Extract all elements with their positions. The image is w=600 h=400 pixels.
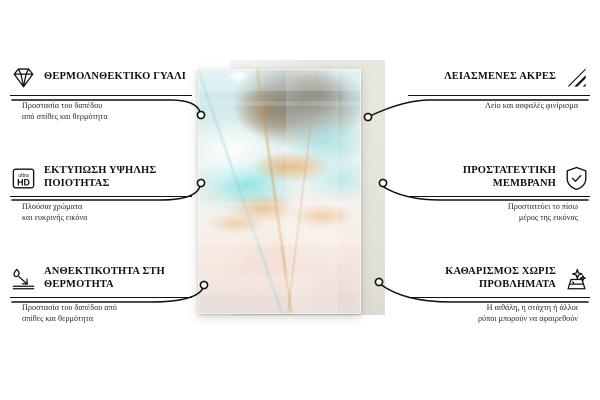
feature-title: ΘΕΡΜΟΛΝΘΕΚΤΙΚΟ ΓΥΑΛΙ [44,71,192,84]
feature-polished-edges: ΛΕΙΑΣΜΕΝΕΣ ΑΚΡΕΣ Λείο και ασφαλές φινίρι… [408,62,590,111]
feature-title: ΑΝΘΕΚΤΙΚΟΤΗΤΑ ΣΤΗ ΘΕΡΜΟΤΗΤΑ [44,266,192,292]
feature-header: ΚΑΘΑΡΙΣΜΟΣ ΧΩΡΙΣ ΠΡΟΒΛΗΜΑΤΑ [408,264,590,294]
leader-dot-right-1 [364,113,371,120]
feature-description: Προστασία του δαπέδου από σπίθες και θερ… [10,100,192,123]
leader-dot-left-1 [197,111,204,118]
feature-header: ΠΡΟΣΤΑΤΕΥΤΙΚΗ ΜΕΜΒΡΑΝΗ [408,163,590,193]
feature-title: ΠΡΟΣΤΑΤΕΥΤΙΚΗ ΜΕΜΒΡΑΝΗ [408,165,556,191]
feature-description: Προστασία του δαπέδου από σπίθες και θερ… [10,302,192,325]
feature-description: Πλούσια χρώματα και ευκρινής εικόνα [10,201,192,224]
feature-header: ΑΝΘΕΚΤΙΚΟΤΗΤΑ ΣΤΗ ΘΕΡΜΟΤΗΤΑ [10,264,192,294]
feature-divider [408,297,590,298]
feature-header: ΘΕΡΜΟΛΝΘΕΚΤΙΚΟ ΓΥΑΛΙ [10,62,192,92]
ultra-hd-icon-hd-label: HD [17,177,30,187]
feature-divider [10,95,192,96]
feature-divider [408,95,590,96]
feature-title: ΚΑΘΑΡΙΣΜΟΣ ΧΩΡΙΣ ΠΡΟΒΛΗΜΑΤΑ [408,266,556,292]
feature-divider [10,196,192,197]
feature-header: ΛΕΙΑΣΜΕΝΕΣ ΑΚΡΕΣ [408,62,590,92]
polished-edges-icon [563,64,590,91]
feature-description: Λείο και ασφαλές φινίρισμα [408,100,590,111]
feature-title: ΕΚΤΥΠΩΣΗ ΥΨΗΛΗΣ ΠΟΙΟΤΗΤΑΣ [44,165,192,191]
feature-high-quality-print: ultra HD ΕΚΤΥΠΩΣΗ ΥΨΗΛΗΣ ΠΟΙΟΤΗΤΑΣ Πλούσ… [10,163,192,224]
leader-dot-left-2 [197,179,204,186]
diamond-icon [10,64,37,91]
feature-description: Η αιθάλη, η στάχτη ή άλλοι ρύποι μπορούν… [408,302,590,325]
shield-check-icon [563,165,590,192]
feature-heat-resistance: ΑΝΘΕΚΤΙΚΟΤΗΤΑ ΣΤΗ ΘΕΡΜΟΤΗΤΑ Προστασία το… [10,264,192,325]
feature-divider [10,297,192,298]
easy-cleaning-icon [563,266,590,293]
feature-divider [408,196,590,197]
feature-header: ultra HD ΕΚΤΥΠΩΣΗ ΥΨΗΛΗΣ ΠΟΙΟΤΗΤΑΣ [10,163,192,193]
heat-resistance-icon [10,266,37,293]
leader-dot-right-2 [379,179,386,186]
feature-protective-membrane: ΠΡΟΣΤΑΤΕΥΤΙΚΗ ΜΕΜΒΡΑΝΗ Προστατεύει το πί… [408,163,590,224]
infographic-canvas: ΘΕΡΜΟΛΝΘΕΚΤΙΚΟ ΓΥΑΛΙ Προστασία του δαπέδ… [0,0,600,400]
ultra-hd-icon: ultra HD [10,165,37,192]
feature-heatproof-glass: ΘΕΡΜΟΛΝΘΕΚΤΙΚΟ ΓΥΑΛΙ Προστασία του δαπέδ… [10,62,192,123]
leader-dot-right-3 [375,278,382,285]
feature-description: Προστατεύει το πίσω μέρος της εικόνας [408,201,590,224]
feature-title: ΛΕΙΑΣΜΕΝΕΣ ΑΚΡΕΣ [408,71,556,84]
feature-easy-cleaning: ΚΑΘΑΡΙΣΜΟΣ ΧΩΡΙΣ ΠΡΟΒΛΗΜΑΤΑ Η αιθάλη, η … [408,264,590,325]
leader-dot-left-3 [200,281,207,288]
